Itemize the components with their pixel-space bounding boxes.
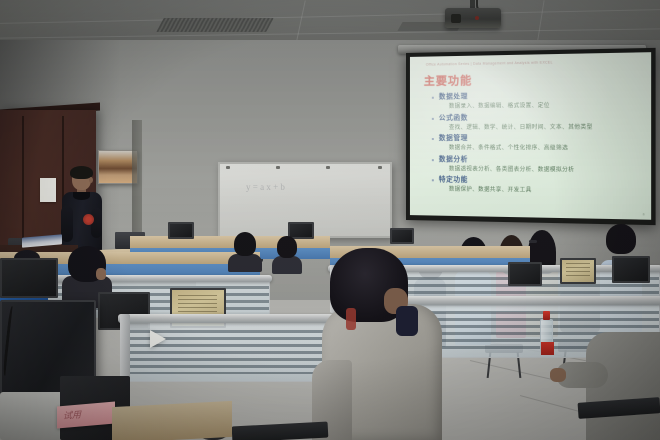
cabinet-notice: [40, 178, 56, 202]
slide-item: 特定功能 数据保护、数据共享、开发工具: [432, 175, 642, 198]
projection-screen: Office Automation Series | Data Manageme…: [406, 48, 656, 225]
student-hand: [550, 368, 566, 382]
monitor: [560, 258, 596, 284]
monitor-screen: [390, 228, 414, 244]
student-torso: [272, 256, 302, 274]
slide-item: 数据管理 数据合并、条件格式、个性化排序、高级筛选: [432, 134, 642, 155]
divider-top-rail: [406, 296, 660, 305]
slide-page-number: 8: [643, 212, 645, 216]
wall-edge: [132, 120, 142, 250]
divider-post: [120, 314, 130, 384]
slide-item-heading: 公式函数: [432, 112, 642, 123]
slide-item-detail: 数据保护、数据共享、开发工具: [432, 185, 642, 198]
student-face: [96, 268, 106, 280]
student-grey-sleeve: [556, 318, 660, 440]
bottle-cap: [543, 311, 550, 320]
student-torso: [228, 254, 262, 272]
monitor-screen: [508, 262, 542, 286]
monitor: [0, 258, 58, 298]
instructor-collar: [73, 192, 90, 200]
whiteboard-writing: y = a x + b: [246, 182, 285, 192]
student-grey-blazer: [322, 248, 442, 440]
pink-sticker-text: 试用: [63, 407, 81, 422]
student-hair: [606, 224, 636, 254]
monitor: [508, 262, 542, 286]
instructor-arm-left: [61, 206, 73, 242]
paper-name-tent: [150, 330, 166, 348]
monitor-screen: [560, 258, 596, 284]
slide-item: 数据处理 数据录入、数据编辑、格式设置、定位: [432, 90, 642, 112]
blazer-collar: [396, 306, 418, 336]
monitor-screen: [612, 256, 650, 283]
slide-item-detail: 数据透视表分析、各类图表分析、数据模拟分析: [432, 165, 642, 177]
monitor-content: [566, 263, 590, 277]
classroom-photo: Office Automation Series | Data Manageme…: [0, 0, 660, 440]
instructor-ear: [89, 177, 93, 183]
whiteboard-clip: [378, 166, 382, 169]
student-back-left: [272, 236, 302, 274]
slide-header: Office Automation Series | Data Manageme…: [426, 60, 553, 66]
cola-bottle: [540, 311, 553, 353]
projector: [445, 8, 501, 28]
monitor: [168, 222, 194, 239]
monitor: [390, 228, 414, 244]
slide-item-heading: 数据管理: [432, 134, 642, 145]
slide-title: 主要功能: [424, 72, 472, 89]
student-head: [277, 236, 297, 258]
projector-power-indicator: [475, 16, 479, 20]
desk-surface: [112, 401, 232, 440]
instructor: [60, 168, 104, 256]
monitor-screen: [0, 258, 58, 298]
slide-item-detail: 数据录入、数据编辑、格式设置、定位: [432, 101, 642, 112]
slide-item: 数据分析 数据透视表分析、各类图表分析、数据模拟分析: [432, 155, 642, 177]
lanyard: [346, 308, 356, 330]
cabinet-seam: [22, 116, 24, 248]
slide-item-detail: 数据合并、条件格式、个性化排序、高级筛选: [432, 144, 642, 154]
whiteboard-clip: [226, 166, 230, 169]
slide-body: 数据处理 数据录入、数据编辑、格式设置、定位 公式函数 查找、逻辑、数学、统计、…: [432, 90, 642, 198]
projected-slide: Office Automation Series | Data Manageme…: [410, 52, 651, 220]
monitor: [612, 256, 650, 283]
student-head: [234, 232, 256, 256]
whiteboard-clip: [326, 166, 330, 169]
monitor-screen: [168, 222, 194, 239]
slide-item-detail: 查找、逻辑、数学、统计、日期时间、文本、其他类型: [432, 123, 642, 133]
bottle-body: [540, 319, 553, 353]
projector-lens-icon: [451, 14, 461, 23]
air-vent: [156, 18, 273, 32]
student-back-left: [228, 232, 262, 272]
slide-item: 公式函数 查找、逻辑、数学、统计、日期时间、文本、其他类型: [432, 112, 642, 133]
instructor-badge: [83, 214, 94, 225]
student-glasses-icon: [529, 240, 537, 243]
bottle-label: [541, 342, 554, 355]
whiteboard-clip: [276, 166, 280, 169]
